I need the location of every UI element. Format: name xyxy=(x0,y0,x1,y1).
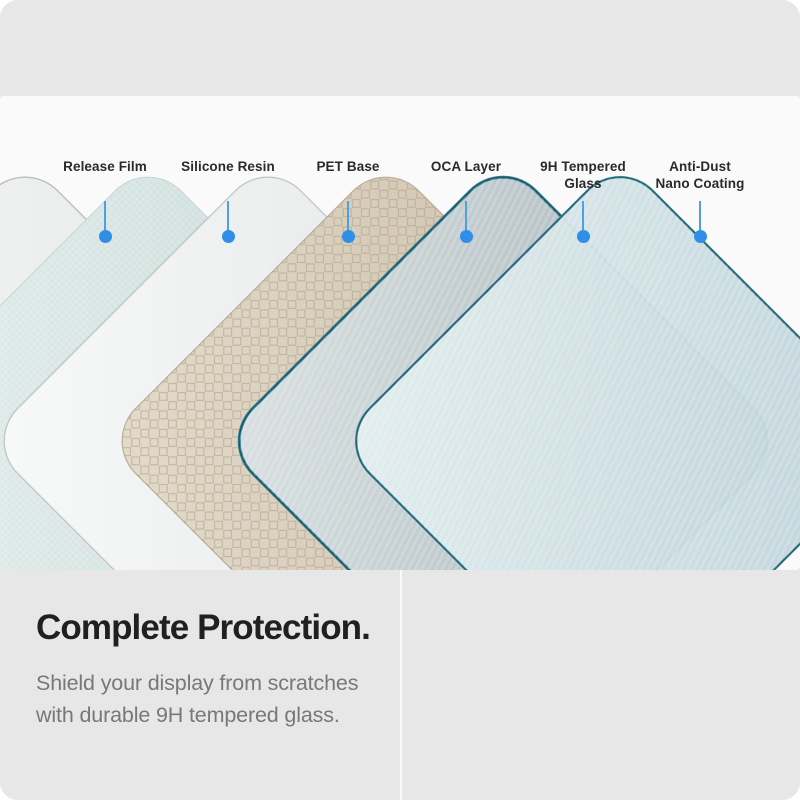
headline: Complete Protection. xyxy=(36,608,370,648)
layer-dot-pet-base[interactable] xyxy=(342,230,355,243)
layer-dot-oca-layer[interactable] xyxy=(460,230,473,243)
product-infographic-card: Release Film Silicone Resin PET Base OCA… xyxy=(0,0,800,800)
layer-label-anti-dust-nano: Anti-Dust Nano Coating xyxy=(620,159,780,192)
subcopy: Shield your display from scratches with … xyxy=(36,668,358,731)
layer-dot-anti-dust-nano[interactable] xyxy=(694,230,707,243)
layer-dot-tempered-glass[interactable] xyxy=(577,230,590,243)
layer-dot-release-film[interactable] xyxy=(99,230,112,243)
vertical-divider xyxy=(400,570,402,800)
top-band xyxy=(0,0,800,96)
layer-dot-silicone-resin[interactable] xyxy=(222,230,235,243)
